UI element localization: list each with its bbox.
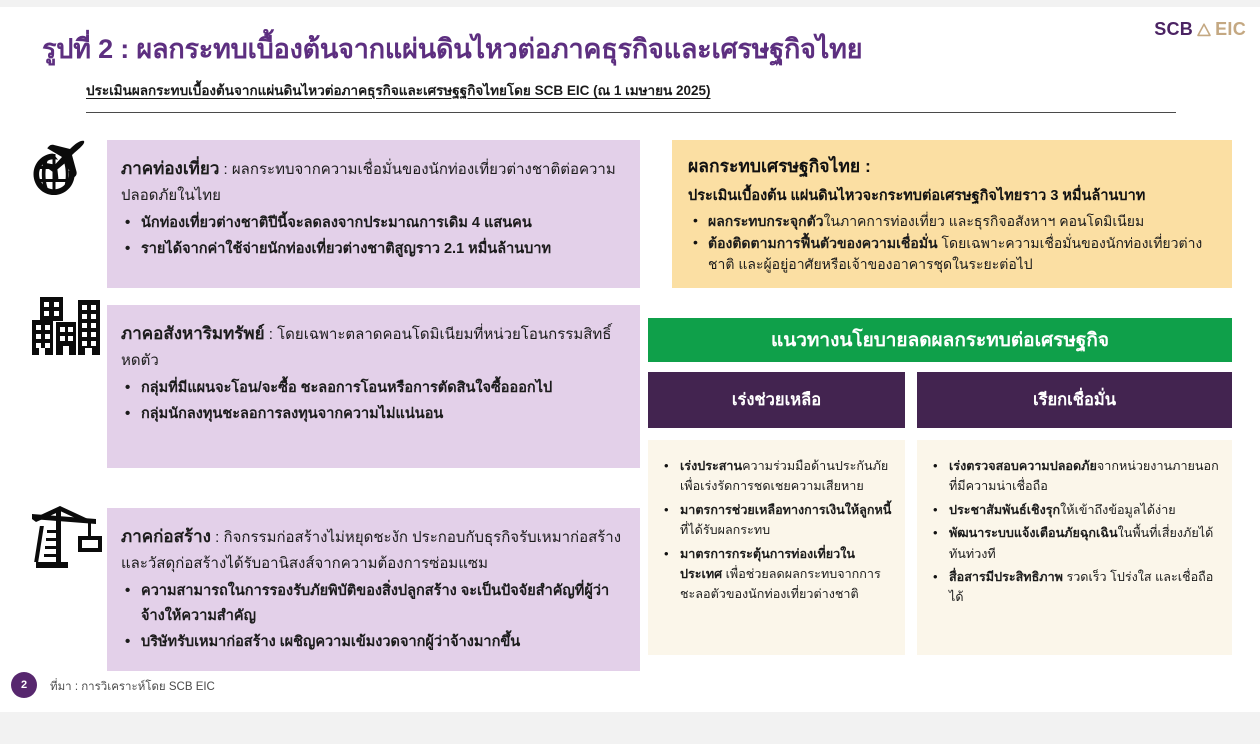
policy-column-header-urgent-aid: เร่งช่วยเหลือ (648, 372, 905, 428)
sector-bullet-list: ความสามารถในการรองรับภัยพิบัติของสิ่งปลู… (121, 579, 622, 655)
city-buildings-icon (30, 294, 104, 363)
list-item: ประชาสัมพันธ์เชิงรุกให้เข้าถึงข้อมูลได้ง… (949, 500, 1222, 520)
sector-lead: ภาคอสังหาริมทรัพย์ : โดยเฉพาะตลาดคอนโดมิ… (121, 319, 622, 374)
list-item-rest: ที่ได้รับผลกระทบ (680, 523, 770, 537)
list-item-rest: ให้เข้าถึงข้อมูลได้ง่าย (1060, 503, 1176, 517)
economy-impact-box: ผลกระทบเศรษฐกิจไทย : ประเมินเบื้องต้น แผ… (672, 140, 1232, 288)
page-title: รูปที่ 2 : ผลกระทบเบื้องต้นจากแผ่นดินไหว… (42, 27, 862, 70)
list-item: บริษัทรับเหมาก่อสร้าง เผชิญความเข้มงวดจา… (141, 630, 622, 655)
policy-column-body-urgent-aid: เร่งประสานความร่วมมือด้านประกันภัยเพื่อเ… (648, 440, 905, 655)
top-band (0, 0, 1260, 7)
list-item: กลุ่มที่มีแผนจะโอน/จะซื้อ ชะลอการโอนหรือ… (141, 376, 622, 401)
policy-column-header-restore-confidence: เรียกเชื่อมั่น (917, 372, 1232, 428)
policy-column-body-restore-confidence: เร่งตรวจสอบความปลอดภัยจากหน่วยงานภายนอกท… (917, 440, 1232, 655)
policy-bullet-list: เร่งตรวจสอบความปลอดภัยจากหน่วยงานภายนอกท… (927, 456, 1222, 608)
list-item: สื่อสารมีประสิทธิภาพ รวดเร็ว โปร่งใส และ… (949, 567, 1222, 608)
scb-shield-mark-icon (1196, 22, 1212, 38)
list-item-bold: เร่งประสาน (680, 459, 742, 473)
list-item-bold: ต้องติดตามการฟื้นตัวของความเชื่อมั่น (708, 235, 938, 251)
list-item: นักท่องเที่ยวต่างชาติปีนี้จะลดลงจากประมา… (141, 211, 622, 236)
list-item-rest: ในภาคการท่องเที่ยว และธุรกิจอสังหาฯ คอนโ… (824, 213, 1145, 229)
sector-heading: ภาคท่องเที่ยว (121, 159, 219, 178)
bottom-band (0, 712, 1260, 744)
sector-colon: : (211, 529, 224, 546)
list-item: เร่งตรวจสอบความปลอดภัยจากหน่วยงานภายนอกท… (949, 456, 1222, 497)
policy-bullet-list: เร่งประสานความร่วมมือด้านประกันภัยเพื่อเ… (658, 456, 895, 605)
economy-impact-subheading: ประเมินเบื้องต้น แผ่นดินไหวจะกระทบต่อเศร… (688, 186, 1216, 208)
list-item-bold: เร่งตรวจสอบความปลอดภัย (949, 459, 1097, 473)
sector-heading: ภาคก่อสร้าง (121, 527, 211, 546)
policy-banner: แนวทางนโยบายลดผลกระทบต่อเศรษฐกิจ (648, 318, 1232, 362)
sector-lead: ภาคก่อสร้าง : กิจกรรมก่อสร้างไม่หยุดชะงั… (121, 522, 622, 577)
sector-card-construction: ภาคก่อสร้าง : กิจกรรมก่อสร้างไม่หยุดชะงั… (107, 508, 640, 671)
list-item: รายได้จากค่าใช้จ่ายนักท่องเที่ยวต่างชาติ… (141, 237, 622, 262)
logo-text-eic: EIC (1215, 19, 1246, 40)
sector-card-tourism: ภาคท่องเที่ยว : ผลกระทบจากความเชื่อมั่นข… (107, 140, 640, 288)
header-divider (86, 112, 1176, 113)
slide-root: SCB EIC รูปที่ 2 : ผลกระทบเบื้องต้นจากแผ… (0, 0, 1260, 744)
list-item-bold: พัฒนาระบบแจ้งเตือนภัยฉุกเฉิน (949, 526, 1118, 540)
page-number-badge: 2 (11, 672, 37, 698)
source-note: ที่มา : การวิเคราะห์โดย SCB EIC (50, 678, 215, 696)
list-item: มาตรการกระตุ้นการท่องเที่ยวในประเทศ เพื่… (680, 544, 895, 605)
list-item: ผลกระทบกระจุกตัวในภาคการท่องเที่ยว และธุ… (708, 211, 1216, 232)
list-item-bold: ผลกระทบกระจุกตัว (708, 213, 824, 229)
scb-eic-logo: SCB EIC (1154, 19, 1246, 40)
sector-colon: : (219, 161, 232, 178)
sector-bullet-list: นักท่องเที่ยวต่างชาติปีนี้จะลดลงจากประมา… (121, 211, 622, 262)
list-item-bold: มาตรการช่วยเหลือทางการเงินให้ลูกหนี้ (680, 503, 891, 517)
list-item: ต้องติดตามการฟื้นตัวของความเชื่อมั่น โดย… (708, 233, 1216, 276)
list-item-bold: ประชาสัมพันธ์เชิงรุก (949, 503, 1060, 517)
list-item: มาตรการช่วยเหลือทางการเงินให้ลูกหนี้ที่ไ… (680, 500, 895, 541)
list-item: เร่งประสานความร่วมมือด้านประกันภัยเพื่อเ… (680, 456, 895, 497)
construction-crane-icon (26, 500, 106, 577)
sector-card-real-estate: ภาคอสังหาริมทรัพย์ : โดยเฉพาะตลาดคอนโดมิ… (107, 305, 640, 468)
sector-bullet-list: กลุ่มที่มีแผนจะโอน/จะซื้อ ชะลอการโอนหรือ… (121, 376, 622, 427)
economy-impact-heading: ผลกระทบเศรษฐกิจไทย : (688, 152, 1216, 180)
list-item-bold: สื่อสารมีประสิทธิภาพ (949, 570, 1063, 584)
economy-impact-bullet-list: ผลกระทบกระจุกตัวในภาคการท่องเที่ยว และธุ… (688, 211, 1216, 276)
sector-colon: : (265, 326, 278, 343)
list-item: กลุ่มนักลงทุนชะลอการลงทุนจากความไม่แน่นอ… (141, 402, 622, 427)
sector-lead: ภาคท่องเที่ยว : ผลกระทบจากความเชื่อมั่นข… (121, 154, 622, 209)
sector-heading: ภาคอสังหาริมทรัพย์ (121, 324, 265, 343)
list-item: พัฒนาระบบแจ้งเตือนภัยฉุกเฉินในพื้นที่เสี… (949, 523, 1222, 564)
page-subtitle: ประเมินผลกระทบเบื้องต้นจากแผ่นดินไหวต่อภ… (86, 79, 711, 101)
globe-airplane-icon (24, 133, 104, 206)
list-item: ความสามารถในการรองรับภัยพิบัติของสิ่งปลู… (141, 579, 622, 629)
logo-text-scb: SCB (1154, 19, 1193, 40)
